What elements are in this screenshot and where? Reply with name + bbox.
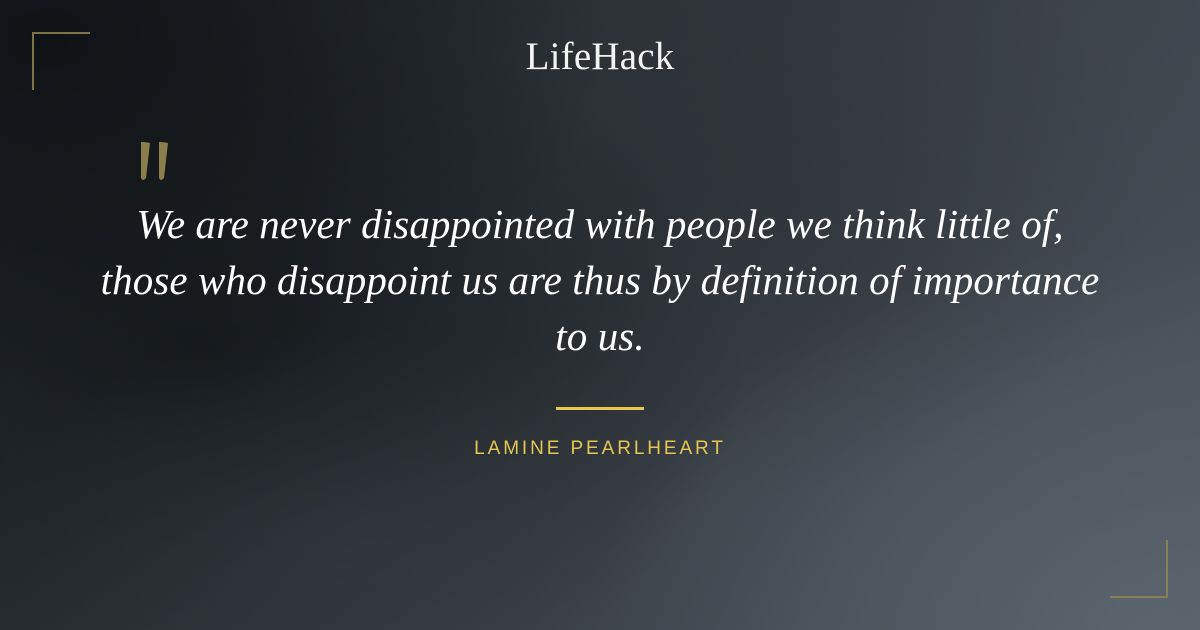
quote-card: LifeHack We are never disappointed with … <box>0 0 1200 630</box>
double-quote-icon <box>0 140 1200 196</box>
quote-line: to us. <box>90 308 1110 364</box>
quote-block: We are never disappointed with people we… <box>0 140 1200 364</box>
author-divider <box>556 407 644 410</box>
lifehack-logo: LifeHack <box>0 37 1200 76</box>
corner-bracket-bottom-right-icon <box>1110 540 1168 598</box>
quote-author: LAMINE PEARLHEART <box>0 438 1200 460</box>
quote-line: those who disappoint us are thus by defi… <box>90 252 1110 308</box>
quote-text: We are never disappointed with people we… <box>90 196 1110 364</box>
quote-line: We are never disappointed with people we… <box>90 196 1110 252</box>
